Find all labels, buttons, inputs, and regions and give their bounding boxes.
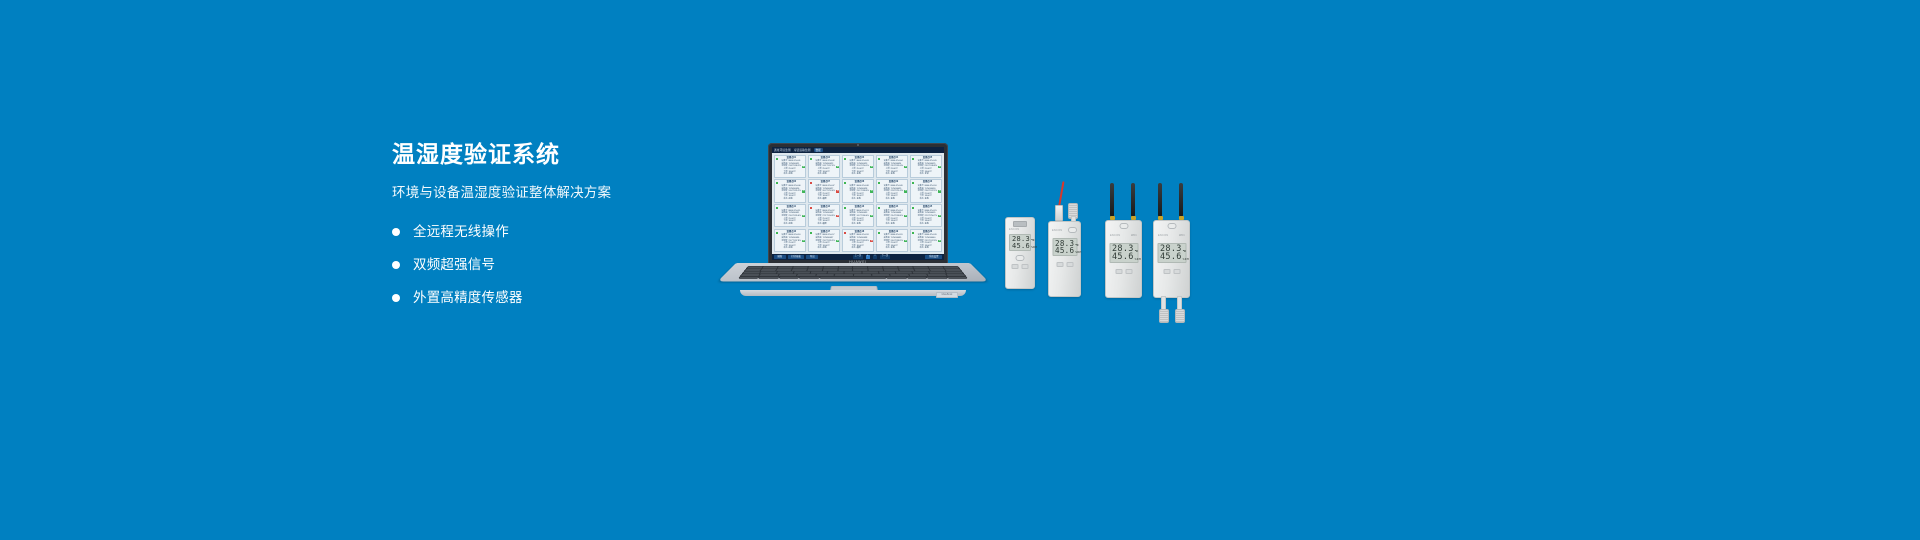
monitoring-card-title: 监测点06 bbox=[779, 181, 805, 184]
device-3-button-row[interactable] bbox=[1115, 269, 1132, 274]
device-1-hum-unit: %RH bbox=[1031, 246, 1037, 249]
keyboard-key[interactable] bbox=[739, 277, 759, 279]
keyboard-key[interactable] bbox=[811, 271, 827, 273]
device-3-button-left[interactable] bbox=[1115, 269, 1122, 274]
keyboard-key[interactable] bbox=[845, 271, 861, 273]
status-dot-icon bbox=[776, 232, 778, 234]
device-4-body: ENCON WiFi 28.3℃ 45.6%RH bbox=[1153, 220, 1190, 298]
monitoring-card-row-label: 状态 bbox=[813, 173, 822, 176]
monitoring-card-row-label: 状态 bbox=[779, 247, 788, 250]
monitoring-card-status-badge: 正常 bbox=[802, 166, 806, 168]
monitoring-card-status-badge: 正常 bbox=[802, 240, 806, 242]
feature-bullet-1: 全远程无线操作 bbox=[392, 224, 722, 240]
monitoring-card-row-label: 状态 bbox=[813, 223, 822, 226]
product-banner: 温湿度验证系统 环境与设备温湿度验证整体解决方案 全远程无线操作 双频超强信号 … bbox=[0, 0, 1920, 540]
feature-bullet-2: 双频超强信号 bbox=[392, 257, 722, 273]
keyboard-key[interactable] bbox=[797, 274, 815, 276]
monitoring-card-title: 监测点08 bbox=[847, 181, 873, 184]
status-dot-icon bbox=[810, 182, 812, 184]
device-4-button-right[interactable] bbox=[1173, 269, 1180, 274]
monitoring-card[interactable]: 监测点10设备号8600-37-0-10采集器T-25090030温湿度23.6… bbox=[910, 179, 943, 203]
page-subtitle: 环境与设备温湿度验证整体解决方案 bbox=[392, 184, 722, 202]
device-1-temp-unit: ℃ bbox=[1031, 239, 1035, 242]
device-2-probe-connector bbox=[1055, 205, 1063, 221]
monitoring-card-row: 状态在线 bbox=[881, 247, 907, 250]
bullet-dot-icon bbox=[392, 228, 400, 236]
device-1-body: ENCON 28.3℃ 45.6%RH bbox=[1005, 217, 1035, 289]
monitoring-card-row-label: 状态 bbox=[779, 198, 788, 201]
laptop-front-lip bbox=[740, 290, 966, 296]
status-dot-icon bbox=[878, 158, 880, 160]
device-4-temp-unit: ℃ bbox=[1183, 250, 1187, 253]
device-dual-antenna-probe-transmitter: ENCON WiFi 28.3℃ 45.6%RH bbox=[1153, 183, 1190, 298]
monitoring-card[interactable]: 监测点03设备号8600-37-0-03采集器T-25090023温湿度22.6… bbox=[842, 155, 875, 179]
monitoring-card[interactable]: 监测点05设备号8600-37-0-05采集器T-25090025温湿度23.9… bbox=[910, 155, 943, 179]
monitoring-card-row-value: 在线 bbox=[789, 247, 793, 250]
monitoring-card[interactable]: 监测点02设备号8600-37-0-02采集器T-25090022温湿度24.1… bbox=[808, 155, 841, 179]
keyboard-row bbox=[743, 271, 963, 273]
keyboard-key[interactable] bbox=[760, 274, 779, 276]
monitoring-card-status-badge: 报警 bbox=[870, 240, 874, 242]
device-2-lcd-display: 28.3℃ 45.6%RH bbox=[1052, 238, 1077, 256]
dashboard-active-tab[interactable]: 数据 bbox=[814, 148, 823, 152]
keyboard-key[interactable] bbox=[907, 277, 927, 279]
status-dot-icon bbox=[912, 158, 914, 160]
keyboard-key[interactable] bbox=[828, 271, 844, 273]
monitoring-card[interactable]: 监测点18设备号8600-37-0-18采集器T-25090038温湿度26.6… bbox=[842, 229, 875, 253]
device-2-brand-label: ENCON bbox=[1052, 229, 1062, 232]
device-1-hanger-hole-icon bbox=[1016, 255, 1025, 261]
laptop-screen: 通用环境监测 冷链运输监测 数据 监测点01设备号8600-37-0-01采集器… bbox=[772, 147, 944, 260]
device-3-button-right[interactable] bbox=[1125, 269, 1132, 274]
keyboard-key[interactable] bbox=[779, 277, 799, 279]
monitoring-card-row-label: 状态 bbox=[915, 247, 924, 250]
monitoring-card-grid: 监测点01设备号8600-37-0-01采集器T-25090021温湿度23.8… bbox=[772, 153, 944, 254]
feature-bullet-label: 双频超强信号 bbox=[413, 257, 495, 273]
status-dot-icon bbox=[776, 182, 778, 184]
device-3-hum-unit: %RH bbox=[1135, 258, 1141, 261]
monitoring-card-row-label: 状态 bbox=[881, 198, 890, 201]
bullet-dot-icon bbox=[392, 261, 400, 269]
monitoring-card-status-badge: 正常 bbox=[904, 190, 908, 192]
status-dot-icon bbox=[776, 207, 778, 209]
monitoring-card-row-label: 状态 bbox=[915, 223, 924, 226]
keyboard-key[interactable] bbox=[929, 271, 946, 273]
keyboard-key[interactable] bbox=[895, 271, 912, 273]
device-2-humidity-reading: 45.6%RH bbox=[1055, 247, 1074, 255]
keyboard-key[interactable] bbox=[862, 271, 878, 273]
monitoring-card-row: 状态在线 bbox=[881, 173, 907, 176]
device-4-brand-label: ENCON bbox=[1158, 234, 1168, 237]
keyboard-key[interactable] bbox=[777, 271, 794, 273]
device-4-button-left[interactable] bbox=[1163, 269, 1170, 274]
monitoring-card-row-label: 状态 bbox=[881, 247, 890, 250]
monitoring-card-row-value: 在线 bbox=[857, 223, 861, 226]
monitoring-card-row-label: 状态 bbox=[847, 247, 856, 250]
device-3-antenna-right bbox=[1131, 183, 1135, 217]
bullet-dot-icon bbox=[392, 294, 400, 302]
status-dot-icon bbox=[844, 207, 846, 209]
status-dot-icon bbox=[878, 207, 880, 209]
monitoring-card-row: 状态超限 bbox=[847, 247, 873, 250]
monitoring-card-row-value: 在线 bbox=[891, 173, 895, 176]
monitoring-card-row-value: 在线 bbox=[789, 173, 793, 176]
monitoring-card-row-label: 状态 bbox=[881, 223, 890, 226]
feature-bullet-label: 外置高精度传感器 bbox=[413, 290, 523, 306]
device-1-button-left[interactable] bbox=[1012, 264, 1019, 269]
keyboard-key[interactable] bbox=[741, 274, 760, 276]
device-4-antenna-right bbox=[1179, 183, 1183, 217]
device-3-temp-unit: ℃ bbox=[1135, 250, 1139, 253]
monitoring-card-row-label: 状态 bbox=[779, 173, 788, 176]
keyboard-key[interactable] bbox=[946, 274, 965, 276]
keyboard-key[interactable] bbox=[799, 277, 819, 279]
monitoring-card-status-badge: 正常 bbox=[904, 240, 908, 242]
device-1-humidity-reading: 45.6%RH bbox=[1012, 243, 1028, 250]
keyboard-key[interactable] bbox=[854, 274, 872, 276]
device-2-button-row[interactable] bbox=[1056, 262, 1073, 267]
monitoring-card-row-value: 在线 bbox=[857, 173, 861, 176]
monitoring-card-row: 状态在线 bbox=[779, 223, 805, 226]
keyboard-key[interactable] bbox=[879, 271, 895, 273]
monitoring-card-status-badge: 正常 bbox=[802, 190, 806, 192]
monitoring-card[interactable]: 监测点16设备号8600-37-0-16采集器T-25090036温湿度23.7… bbox=[774, 229, 807, 253]
status-dot-icon bbox=[810, 207, 812, 209]
monitoring-card-title: 监测点12 bbox=[813, 206, 839, 209]
device-4-sensor-mesh-left-icon bbox=[1159, 309, 1169, 323]
feature-bullet-list: 全远程无线操作 双频超强信号 外置高精度传感器 bbox=[392, 224, 722, 306]
keyboard-key[interactable] bbox=[759, 277, 779, 279]
monitoring-card-row-value: 在线 bbox=[925, 198, 929, 201]
monitoring-card[interactable]: 监测点04设备号8600-37-0-04采集器T-25090024温湿度23.3… bbox=[876, 155, 909, 179]
device-4-sensor-mesh-right-icon bbox=[1175, 309, 1185, 323]
monitoring-card-row: 状态在线 bbox=[915, 247, 941, 250]
monitoring-card-status-badge: 正常 bbox=[904, 166, 908, 168]
keyboard-key[interactable] bbox=[794, 271, 811, 273]
laptop-model-badge: MateBook bbox=[936, 292, 958, 298]
device-2-temp-unit: ℃ bbox=[1075, 244, 1079, 247]
monitoring-card-row-label: 状态 bbox=[915, 198, 924, 201]
monitoring-card-row: 状态在线 bbox=[779, 198, 805, 201]
monitoring-card-row-label: 状态 bbox=[847, 223, 856, 226]
keyboard-key[interactable] bbox=[927, 274, 946, 276]
device-1-button-row[interactable] bbox=[1012, 264, 1029, 269]
monitoring-card-row: 状态在线 bbox=[779, 173, 805, 176]
status-dot-icon bbox=[912, 207, 914, 209]
monitoring-card-row-value: 正常 bbox=[925, 173, 929, 176]
device-4-model-label: WiFi bbox=[1179, 234, 1185, 237]
monitoring-card-row: 状态在线 bbox=[847, 223, 873, 226]
monitoring-card-row-value: 在线 bbox=[823, 173, 827, 176]
monitoring-card-title: 监测点15 bbox=[915, 206, 941, 209]
device-3-model-label: WiFi bbox=[1131, 234, 1137, 237]
status-dot-icon bbox=[844, 232, 846, 234]
monitoring-card-status-badge: 正常 bbox=[870, 190, 874, 192]
dashboard-menu-item-0[interactable]: 通用环境监测 bbox=[774, 148, 791, 152]
banner-copy-block: 温湿度验证系统 环境与设备温湿度验证整体解决方案 全远程无线操作 双频超强信号 … bbox=[392, 140, 722, 323]
monitoring-card-status-badge: 正常 bbox=[938, 166, 942, 168]
monitoring-card[interactable]: 监测点01设备号8600-37-0-01采集器T-25090021温湿度23.8… bbox=[774, 155, 807, 179]
monitoring-card-row-value: 超限 bbox=[823, 223, 827, 226]
monitoring-card-row: 状态在线 bbox=[881, 198, 907, 201]
keyboard-key[interactable] bbox=[912, 271, 929, 273]
status-dot-icon bbox=[912, 232, 914, 234]
monitoring-card-row-value: 在线 bbox=[891, 247, 895, 250]
laptop-lid: 通用环境监测 冷链运输监测 数据 监测点01设备号8600-37-0-01采集器… bbox=[768, 143, 948, 265]
keyboard-key[interactable] bbox=[872, 274, 890, 276]
device-1-hum-value: 45.6 bbox=[1012, 243, 1030, 250]
device-2-hanger-hole-icon bbox=[1068, 227, 1077, 233]
monitoring-card-row-label: 状态 bbox=[847, 173, 856, 176]
monitoring-card-status-badge: 正常 bbox=[870, 166, 874, 168]
device-2-hum-unit: %RH bbox=[1075, 251, 1081, 254]
keyboard-key[interactable] bbox=[927, 277, 947, 279]
keyboard-key[interactable] bbox=[891, 274, 909, 276]
monitoring-card-title: 监测点14 bbox=[881, 206, 907, 209]
monitoring-card[interactable]: 监测点12设备号8600-37-0-12采集器T-25090032温湿度27.1… bbox=[808, 204, 841, 228]
device-4-lcd-display: 28.3℃ 45.6%RH bbox=[1157, 243, 1186, 263]
laptop-product-image: 通用环境监测 冷链运输监测 数据 监测点01设备号8600-37-0-01采集器… bbox=[722, 143, 984, 298]
monitoring-card-status-badge: 正常 bbox=[938, 190, 942, 192]
device-wireless-datalogger-small: ENCON 28.3℃ 45.6%RH bbox=[1005, 217, 1035, 289]
keyboard-key[interactable] bbox=[816, 274, 834, 276]
laptop-keyboard[interactable] bbox=[738, 266, 968, 278]
monitoring-card-row: 状态超限 bbox=[813, 198, 839, 201]
monitoring-card-row-label: 状态 bbox=[813, 247, 822, 250]
keyboard-key[interactable] bbox=[820, 277, 887, 279]
device-3-hanger-hole-icon bbox=[1119, 223, 1128, 229]
sensor-device-group: ENCON 28.3℃ 45.6%RH bbox=[1005, 175, 1225, 310]
monitoring-card[interactable]: 监测点17设备号8600-37-0-17采集器T-25090037温湿度23.2… bbox=[808, 229, 841, 253]
monitoring-card[interactable]: 监测点07设备号8600-37-0-07采集器T-25090027温湿度26.2… bbox=[808, 179, 841, 203]
device-4-hum-value: 45.6 bbox=[1160, 253, 1182, 262]
monitoring-card-status-badge: 正常 bbox=[836, 166, 840, 168]
monitoring-card[interactable]: 监测点14设备号8600-37-0-14采集器T-25090034温湿度23.4… bbox=[876, 204, 909, 228]
device-dual-antenna-transmitter: ENCON WiFi 28.3℃ 45.6%RH bbox=[1105, 183, 1142, 298]
monitoring-card-row-value: 在线 bbox=[857, 198, 861, 201]
monitoring-card-status-badge: 正常 bbox=[836, 240, 840, 242]
monitoring-card[interactable]: 监测点15设备号8600-37-0-15采集器T-25090035温湿度22.9… bbox=[910, 204, 943, 228]
monitoring-card-row: 状态在线 bbox=[847, 198, 873, 201]
device-3-body: ENCON WiFi 28.3℃ 45.6%RH bbox=[1105, 220, 1142, 298]
status-dot-icon bbox=[776, 158, 778, 160]
monitoring-card-row: 状态在线 bbox=[915, 198, 941, 201]
monitoring-card[interactable]: 监测点08设备号8600-37-0-08采集器T-25090028温湿度23.1… bbox=[842, 179, 875, 203]
status-dot-icon bbox=[810, 232, 812, 234]
monitoring-card-row-value: 超限 bbox=[823, 198, 827, 201]
monitoring-card-title: 监测点10 bbox=[915, 181, 941, 184]
monitoring-card-row-value: 在线 bbox=[891, 198, 895, 201]
pagination-page-1[interactable]: 1 bbox=[866, 255, 870, 259]
monitoring-card-row-value: 超限 bbox=[857, 247, 861, 250]
monitoring-card-row-value: 在线 bbox=[891, 223, 895, 226]
device-external-probe-datalogger: ENCON 28.3℃ 45.6%RH bbox=[1048, 203, 1081, 297]
monitoring-card-title: 监测点11 bbox=[779, 206, 805, 209]
monitoring-card[interactable]: 监测点06设备号8600-37-0-06采集器T-25090026温湿度24.4… bbox=[774, 179, 807, 203]
device-3-hum-value: 45.6 bbox=[1112, 253, 1134, 262]
monitoring-card[interactable]: 监测点19设备号8600-37-0-19采集器T-25090039温湿度24.0… bbox=[876, 229, 909, 253]
monitoring-card[interactable]: 监测点20设备号8600-37-0-20采集器T-25090040温湿度23.5… bbox=[910, 229, 943, 253]
monitoring-card-row: 状态在线 bbox=[779, 247, 805, 250]
pagination-next[interactable]: 下一页 bbox=[880, 255, 890, 259]
dashboard-menu-item-1[interactable]: 冷链运输监测 bbox=[794, 148, 811, 152]
monitoring-card-title: 监测点07 bbox=[813, 181, 839, 184]
toolbar-button-settings[interactable]: 系统设置 bbox=[925, 255, 942, 259]
keyboard-key[interactable] bbox=[887, 277, 907, 279]
device-4-antenna-left bbox=[1158, 183, 1162, 217]
monitoring-card-row-value: 在线 bbox=[789, 223, 793, 226]
device-4-button-row[interactable] bbox=[1163, 269, 1180, 274]
monitoring-card-title: 监测点13 bbox=[847, 206, 873, 209]
device-4-humidity-reading: 45.6%RH bbox=[1160, 253, 1183, 262]
device-2-button-right[interactable] bbox=[1066, 262, 1073, 267]
status-dot-icon bbox=[878, 232, 880, 234]
keyboard-key[interactable] bbox=[835, 274, 853, 276]
keyboard-key[interactable] bbox=[946, 271, 963, 273]
keyboard-key[interactable] bbox=[779, 274, 797, 276]
monitoring-card-row-label: 状态 bbox=[915, 173, 924, 176]
monitoring-card-status-badge: 正常 bbox=[938, 240, 942, 242]
monitoring-card-title: 监测点09 bbox=[881, 181, 907, 184]
monitoring-card-row-value: 在线 bbox=[789, 198, 793, 201]
monitoring-card-row: 状态在线 bbox=[881, 223, 907, 226]
monitoring-card[interactable]: 监测点11设备号8600-37-0-11采集器T-25090031温湿度23.0… bbox=[774, 204, 807, 228]
page-title: 温湿度验证系统 bbox=[392, 140, 722, 168]
monitoring-card[interactable]: 监测点13设备号8600-37-0-13采集器T-25090033温湿度24.2… bbox=[842, 204, 875, 228]
keyboard-key[interactable] bbox=[760, 271, 777, 273]
monitoring-card[interactable]: 监测点09设备号8600-37-0-09采集器T-25090029温湿度22.8… bbox=[876, 179, 909, 203]
status-dot-icon bbox=[844, 182, 846, 184]
keyboard-row bbox=[739, 277, 967, 279]
device-2-probe-cable bbox=[1058, 181, 1064, 207]
device-3-humidity-reading: 45.6%RH bbox=[1112, 253, 1135, 262]
toolbar-button-export[interactable]: 导出 bbox=[806, 255, 818, 259]
monitoring-card-row-label: 状态 bbox=[779, 223, 788, 226]
device-2-button-left[interactable] bbox=[1056, 262, 1063, 267]
toolbar-button-refresh[interactable]: 刷新 bbox=[774, 255, 786, 259]
monitoring-card-row-value: 在线 bbox=[925, 223, 929, 226]
monitoring-card-status-badge: 报警 bbox=[836, 190, 840, 192]
pagination-page-2[interactable]: 2 bbox=[873, 255, 877, 259]
device-1-brand-label: ENCON bbox=[1009, 228, 1019, 231]
keyboard-key[interactable] bbox=[743, 271, 760, 273]
monitoring-card-row-label: 状态 bbox=[813, 198, 822, 201]
status-dot-icon bbox=[810, 158, 812, 160]
device-3-brand-label: ENCON bbox=[1110, 234, 1120, 237]
monitoring-card-row-label: 状态 bbox=[847, 198, 856, 201]
device-2-body: ENCON 28.3℃ 45.6%RH bbox=[1048, 221, 1081, 297]
monitoring-card-row-value: 在线 bbox=[925, 247, 929, 250]
feature-bullet-3: 外置高精度传感器 bbox=[392, 290, 722, 306]
keyboard-key[interactable] bbox=[909, 274, 927, 276]
device-1-lcd-display: 28.3℃ 45.6%RH bbox=[1009, 234, 1031, 251]
device-1-vent-icon bbox=[1013, 221, 1027, 227]
feature-bullet-label: 全远程无线操作 bbox=[413, 224, 509, 240]
monitoring-card-row: 状态正常 bbox=[915, 173, 941, 176]
device-3-antenna-left bbox=[1110, 183, 1114, 217]
keyboard-key[interactable] bbox=[947, 277, 967, 279]
monitoring-card-row: 状态在线 bbox=[847, 173, 873, 176]
monitoring-card-row: 状态在线 bbox=[813, 173, 839, 176]
monitoring-card-row: 状态在线 bbox=[915, 223, 941, 226]
device-4-hanger-hole-icon bbox=[1167, 223, 1176, 229]
status-dot-icon bbox=[844, 158, 846, 160]
device-2-hum-value: 45.6 bbox=[1055, 247, 1074, 255]
monitoring-card-row-label: 状态 bbox=[881, 173, 890, 176]
device-1-button-right[interactable] bbox=[1022, 264, 1029, 269]
device-3-lcd-display: 28.3℃ 45.6%RH bbox=[1109, 243, 1138, 263]
pagination-prev[interactable]: 上一页 bbox=[853, 255, 863, 259]
monitoring-card-row: 状态在线 bbox=[813, 247, 839, 250]
monitoring-card-row-value: 在线 bbox=[823, 247, 827, 250]
device-4-hum-unit: %RH bbox=[1183, 258, 1189, 261]
status-dot-icon bbox=[878, 182, 880, 184]
status-dot-icon bbox=[912, 182, 914, 184]
monitoring-card-row: 状态超限 bbox=[813, 223, 839, 226]
toolbar-button-print[interactable]: 打印报表 bbox=[788, 255, 805, 259]
